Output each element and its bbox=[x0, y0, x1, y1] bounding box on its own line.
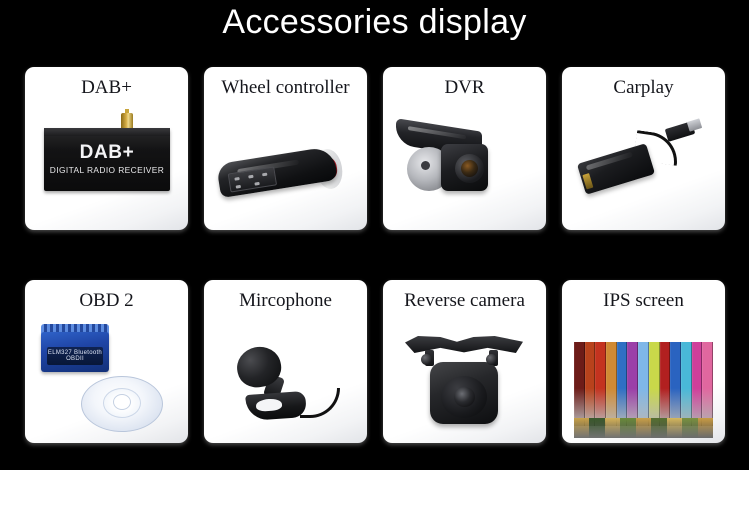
product-image-ips-screen-sample bbox=[562, 314, 725, 443]
dab-unit-body: DAB+ DIGITAL RADIO RECEIVER bbox=[44, 128, 170, 191]
product-image-dab-radio-receiver: DAB+ DIGITAL RADIO RECEIVER bbox=[25, 101, 188, 230]
color-plank bbox=[595, 342, 606, 426]
product-image-clip-microphone bbox=[204, 314, 367, 443]
remote-button bbox=[234, 177, 239, 181]
color-plank bbox=[606, 342, 617, 426]
ips-color-planks bbox=[574, 342, 713, 426]
remote-button bbox=[262, 173, 267, 177]
dab-unit-sub-text: DIGITAL RADIO RECEIVER bbox=[44, 165, 170, 175]
button-pad bbox=[228, 166, 277, 192]
accessory-label-dvr: DVR bbox=[383, 76, 546, 99]
accessory-card-microphone[interactable]: Mircophone bbox=[204, 280, 367, 443]
microphone-cable bbox=[300, 388, 340, 418]
accessory-label-obd2: OBD 2 bbox=[25, 289, 188, 312]
accessory-card-carplay[interactable]: Carplay bbox=[562, 67, 725, 230]
highlight-sheen bbox=[408, 126, 466, 139]
remote-button bbox=[248, 175, 253, 179]
floor-strip bbox=[620, 418, 635, 438]
color-plank bbox=[638, 342, 649, 426]
remote-button bbox=[236, 185, 241, 189]
accessory-label-dab: DAB+ bbox=[25, 76, 188, 99]
dab-unit-main-text: DAB+ bbox=[44, 142, 170, 164]
remote-button bbox=[254, 182, 259, 186]
product-image-carplay-dongle bbox=[562, 101, 725, 230]
accessory-label-ips-screen: IPS screen bbox=[562, 289, 725, 312]
accessory-label-reverse-camera: Reverse camera bbox=[383, 289, 546, 312]
accessory-card-dab[interactable]: DAB+ DAB+ DIGITAL RADIO RECEIVER bbox=[25, 67, 188, 230]
cd-center-hole bbox=[113, 394, 131, 410]
dongle-port bbox=[582, 173, 593, 189]
dongle-body bbox=[577, 143, 655, 195]
usb-connector-tip-icon bbox=[687, 118, 702, 131]
accessory-label-wheel-controller: Wheel controller bbox=[204, 76, 367, 99]
color-plank bbox=[585, 342, 596, 426]
color-plank bbox=[692, 342, 703, 426]
highlight-sheen bbox=[586, 152, 633, 171]
color-plank bbox=[670, 342, 681, 426]
accessory-card-dvr[interactable]: DVR bbox=[383, 67, 546, 230]
color-plank bbox=[681, 342, 692, 426]
color-plank bbox=[660, 342, 671, 426]
dashcam-mount-center bbox=[421, 161, 430, 170]
accessory-card-wheel-controller[interactable]: Wheel controller 3M bbox=[204, 67, 367, 230]
camera-mounting-bracket bbox=[405, 336, 523, 353]
accessory-label-microphone: Mircophone bbox=[204, 289, 367, 312]
accessory-card-reverse-camera[interactable]: Reverse camera bbox=[383, 280, 546, 443]
obd-scanner-label: ELM327 Bluetooth OBDII bbox=[47, 347, 103, 365]
accessories-grid: DAB+ DAB+ DIGITAL RADIO RECEIVER Wheel c… bbox=[25, 67, 726, 443]
camera-lens-icon bbox=[461, 160, 478, 177]
remote-body bbox=[216, 146, 338, 198]
floor-strip bbox=[682, 418, 697, 438]
accessory-card-obd2[interactable]: OBD 2 ELM327 Bluetooth OBDII bbox=[25, 280, 188, 443]
floor-strip bbox=[605, 418, 620, 438]
accessory-card-ips-screen[interactable]: IPS screen bbox=[562, 280, 725, 443]
accessory-label-carplay: Carplay bbox=[562, 76, 725, 99]
color-plank bbox=[617, 342, 628, 426]
bracket-screw-icon bbox=[421, 354, 432, 365]
floor-strip bbox=[636, 418, 651, 438]
floor-strip bbox=[698, 418, 713, 438]
floor-strip bbox=[667, 418, 682, 438]
product-image-steering-wheel-remote: 3M bbox=[204, 101, 367, 230]
color-plank bbox=[574, 342, 585, 426]
floor-strip bbox=[651, 418, 666, 438]
screenshot-root: Accessories display DAB+ DAB+ DIGITAL RA… bbox=[0, 0, 749, 526]
color-plank bbox=[702, 342, 713, 426]
floor-strip bbox=[574, 418, 589, 438]
color-plank bbox=[649, 342, 660, 426]
product-image-dashcam bbox=[383, 101, 546, 230]
floor-strip bbox=[589, 418, 604, 438]
obd-label-text: ELM327 Bluetooth OBDII bbox=[47, 350, 103, 362]
color-plank bbox=[627, 342, 638, 426]
dab-unit-top bbox=[44, 128, 170, 136]
camera-lens-icon bbox=[454, 387, 475, 407]
bracket-screw-icon bbox=[486, 354, 497, 365]
ips-color-floor bbox=[574, 418, 713, 438]
product-image-reverse-camera bbox=[383, 314, 546, 443]
product-image-obd2-scanner: ELM327 Bluetooth OBDII bbox=[25, 314, 188, 443]
page-title: Accessories display bbox=[0, 2, 749, 42]
